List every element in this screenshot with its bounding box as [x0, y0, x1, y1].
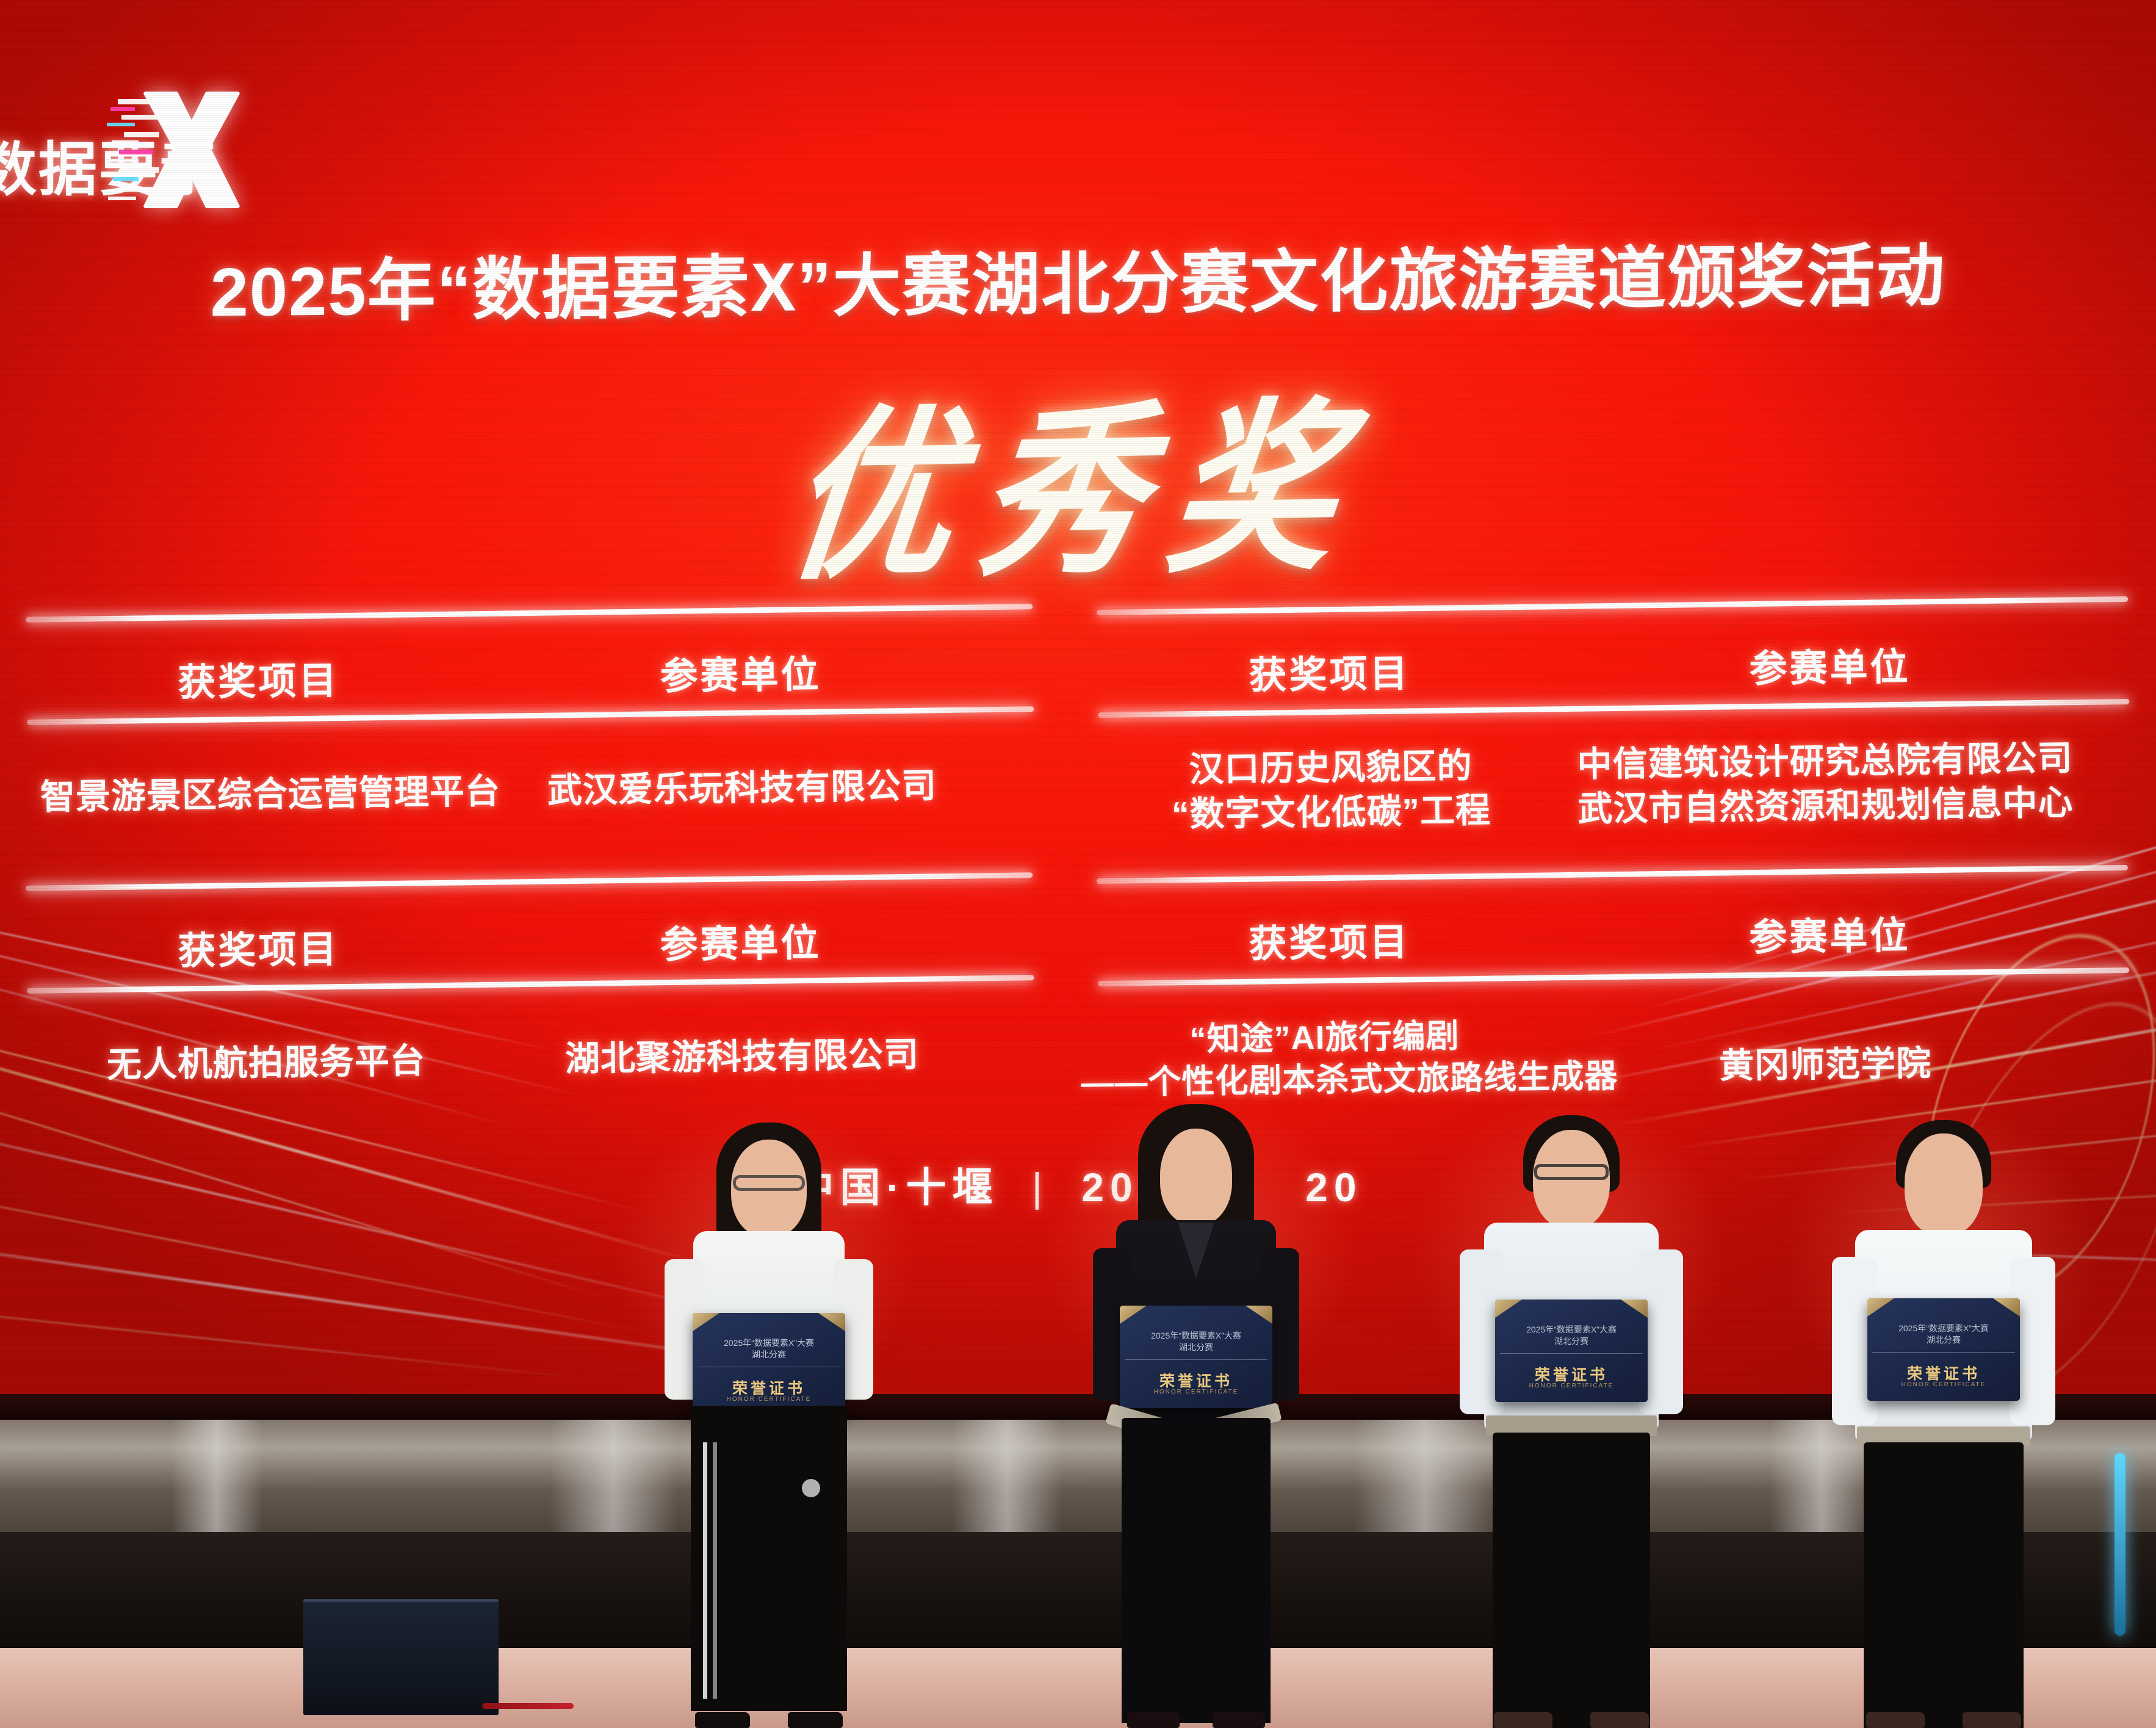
event-title: 2025年“数据要素X”大赛湖北分赛文化旅游赛道颁奖活动	[0, 219, 2156, 338]
stage-cable	[482, 1703, 574, 1709]
footer-location-date: 中国·十堰 | 202 20	[0, 1155, 2156, 1213]
column-header-unit: 参赛单位	[1561, 902, 2099, 964]
awardee-3: 2025年“数据要素X”大赛 湖北分赛 荣誉证书 HONOR CERTIFICA…	[1465, 1124, 1678, 1728]
column-header-unit: 参赛单位	[490, 641, 991, 703]
glasses-icon	[1534, 1164, 1609, 1180]
certificate-title: 荣誉证书	[1120, 1369, 1272, 1391]
led-wall-background: 数据要素 2025年“数据要素X”大赛湖北分赛文化	[0, 0, 2156, 1398]
panel-divider-mid	[1098, 967, 2129, 986]
column-header-project: 获奖项目	[1134, 909, 1525, 969]
footer-date-suffix: 20	[1305, 1165, 1362, 1210]
floor-monitor-speaker	[303, 1599, 499, 1715]
certificate: 2025年“数据要素X”大赛 湖北分赛 荣誉证书 HONOR CERTIFICA…	[1495, 1300, 1648, 1402]
certificate: 2025年“数据要素X”大赛 湖北分赛 荣誉证书 HONOR CERTIFICA…	[693, 1313, 845, 1415]
stage-light-pole	[2115, 1453, 2125, 1636]
award-project-name: 汉口历史风貌区的 “数字文化低碳”工程	[1135, 743, 1527, 837]
award-project-name: 无人机航拍服务平台	[52, 1038, 480, 1088]
brand-logo: 数据要素	[0, 79, 265, 226]
award-panel-top-left: 获奖项目 参赛单位 智景游景区综合运营管理平台 武汉爱乐玩科技有限公司	[26, 604, 1036, 886]
award-panel-top-right: 获奖项目 参赛单位 汉口历史风貌区的 “数字文化低碳”工程 中信建筑设计研究总院…	[1097, 596, 2132, 878]
certificate-line-1: 2025年“数据要素X”大赛	[693, 1337, 845, 1349]
award-unit-name: 湖北聚游科技有限公司	[492, 1032, 993, 1083]
glitch-x-icon	[128, 84, 256, 215]
certificate: 2025年“数据要素X”大赛 湖北分赛 荣誉证书 HONOR CERTIFICA…	[1867, 1298, 2020, 1401]
project-line-1: 汉口历史风貌区的	[1135, 743, 1526, 793]
panel-divider-mid	[27, 975, 1034, 994]
stage-back-panel	[0, 1420, 2156, 1548]
column-header-unit: 参赛单位	[1561, 634, 2099, 696]
certificate-subtitle: HONOR CERTIFICATE	[1495, 1383, 1648, 1389]
certificate-line-1: 2025年“数据要素X”大赛	[1120, 1330, 1272, 1342]
certificate-line-1: 2025年“数据要素X”大赛	[1495, 1324, 1648, 1336]
certificate-line-2: 湖北分赛	[1867, 1334, 2020, 1346]
awardee-2: 2025年“数据要素X”大赛 湖北分赛 荣誉证书 HONOR CERTIFICA…	[1095, 1118, 1297, 1728]
award-unit-name: 中信建筑设计研究总院有限公司 武汉市自然资源和规划信息中心	[1550, 736, 2100, 833]
column-header-project: 获奖项目	[1134, 641, 1525, 701]
column-header-unit: 参赛单位	[490, 909, 991, 971]
project-line-2: ——个性化剧本杀式文旅路线生成器	[1081, 1056, 1570, 1105]
panel-divider-mid	[27, 706, 1034, 725]
certificate-title: 荣誉证书	[693, 1376, 845, 1398]
certificate-line-2: 湖北分赛	[693, 1349, 845, 1361]
certificate-title: 荣誉证书	[1495, 1363, 1648, 1385]
certificate-subtitle: HONOR CERTIFICATE	[693, 1396, 845, 1403]
project-line-1: “知途”AI旅行编剧	[1080, 1014, 1569, 1063]
award-unit-name: 武汉爱乐玩科技有限公司	[492, 763, 993, 814]
project-line-2: “数字文化低碳”工程	[1136, 788, 1527, 837]
column-header-project: 获奖项目	[69, 917, 448, 977]
certificate-line-2: 湖北分赛	[1495, 1336, 1648, 1347]
certificate-line-1: 2025年“数据要素X”大赛	[1867, 1323, 2020, 1334]
awardee-4: 2025年“数据要素X”大赛 湖北分赛 荣誉证书 HONOR CERTIFICA…	[1837, 1130, 2050, 1728]
stage-scene: 数据要素 2025年“数据要素X”大赛湖北分赛文化	[0, 0, 2156, 1728]
unit-line-1: 中信建筑设计研究总院有限公司	[1550, 736, 2100, 788]
awardee-1: 2025年“数据要素X”大赛 湖北分赛 荣誉证书 HONOR CERTIFICA…	[668, 1130, 870, 1728]
award-unit-name: 黄冈师范学院	[1587, 1039, 2064, 1090]
column-header-project: 获奖项目	[69, 648, 448, 708]
award-panel-bottom-right: 获奖项目 参赛单位 “知途”AI旅行编剧 ——个性化剧本杀式文旅路线生成器 黄冈…	[1097, 865, 2132, 1159]
certificate-subtitle: HONOR CERTIFICATE	[1867, 1381, 2020, 1388]
glasses-icon	[733, 1175, 805, 1191]
footer-separator: |	[1032, 1165, 1048, 1210]
award-project-name: 智景游景区综合运营管理平台	[40, 770, 480, 820]
certificate-line-2: 湖北分赛	[1120, 1342, 1272, 1353]
award-panel-bottom-left: 获奖项目 参赛单位 无人机航拍服务平台 湖北聚游科技有限公司	[26, 872, 1036, 1154]
unit-line-2: 武汉市自然资源和规划信息中心	[1551, 781, 2100, 833]
award-project-name: “知途”AI旅行编剧 ——个性化剧本杀式文旅路线生成器	[1080, 1014, 1570, 1105]
certificate-subtitle: HONOR CERTIFICATE	[1120, 1389, 1272, 1395]
certificate: 2025年“数据要素X”大赛 湖北分赛 荣誉证书 HONOR CERTIFICA…	[1120, 1306, 1272, 1408]
award-name-calligraphy: 优秀奖	[0, 324, 2156, 629]
panel-divider-mid	[1098, 699, 2129, 718]
certificate-title: 荣誉证书	[1867, 1362, 2020, 1384]
